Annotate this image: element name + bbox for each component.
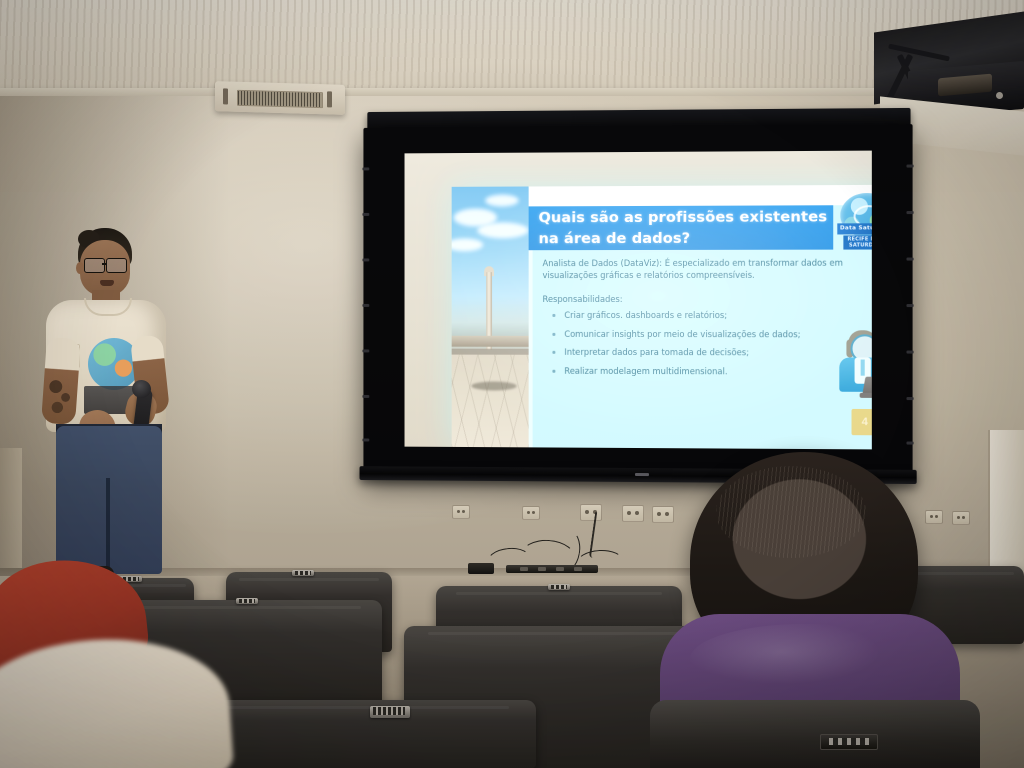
projection-screen: Quais são as profissões existentes na ár… [363, 108, 914, 492]
wall-outlet [952, 511, 970, 525]
seat [650, 700, 980, 768]
list-item: Realizar modelagem multidimensional. [548, 365, 849, 377]
slide-title-band: Quais são as profissões existentes na ár… [529, 205, 834, 250]
screen-black-border: Quais são as profissões existentes na ár… [363, 124, 912, 480]
slide-top-strip [529, 185, 872, 207]
arm-tattoo [45, 375, 78, 421]
slide-title-line-1: Quais são as profissões existentes [539, 206, 836, 228]
presentation-slide: Quais são as profissões existentes na ár… [452, 185, 872, 450]
wall-outlet [622, 505, 644, 522]
seat [196, 700, 536, 768]
power-adapter [468, 563, 494, 574]
recife-data-saturdays-logo-icon: Data Saturdays RECIFE DATA SATURDAYS [835, 193, 872, 252]
slide-photo-obelisk [452, 186, 529, 447]
auditorium-presentation-photo: Quais são as profissões existentes na ár… [0, 0, 1024, 768]
power-strip [506, 565, 598, 573]
eyeglasses-icon [84, 258, 105, 273]
slide-page-number: 4 [852, 409, 872, 435]
list-item: Comunicar insights por meio de visualiza… [548, 328, 849, 339]
slide-title-line-2: na área de dados? [539, 227, 836, 249]
slide-bullet-list: Criar gráficos. dashboards e relatórios;… [548, 310, 849, 385]
slide-page-badge: 4 [852, 409, 872, 435]
wall-outlet [652, 506, 674, 523]
slide-responsibilities-label: Responsabilidades: [542, 294, 622, 304]
wall-panel-left [0, 448, 22, 568]
wall-panel-right [988, 430, 1024, 580]
wall-outlet [452, 505, 470, 519]
list-item: Criar gráficos. dashboards e relatórios; [548, 310, 849, 321]
wall-outlet [522, 506, 540, 520]
data-analyst-illustration-icon [833, 326, 872, 405]
slide-body-text: Analista de Dados (DataViz): É especiali… [542, 258, 843, 282]
logo-ribbon-text: Data Saturdays [837, 223, 872, 234]
presenter: LS [22, 228, 194, 588]
seat-hinge-plate [820, 734, 878, 750]
wall-outlet [925, 510, 943, 524]
logo-sub-text: RECIFE DATA SATURDAYS [843, 235, 871, 249]
air-conditioning-vent-icon [215, 81, 345, 115]
screen-surface: Quais são as profissões existentes na ár… [405, 151, 872, 450]
list-item: Interpretar dados para tomada de decisõe… [548, 347, 849, 359]
